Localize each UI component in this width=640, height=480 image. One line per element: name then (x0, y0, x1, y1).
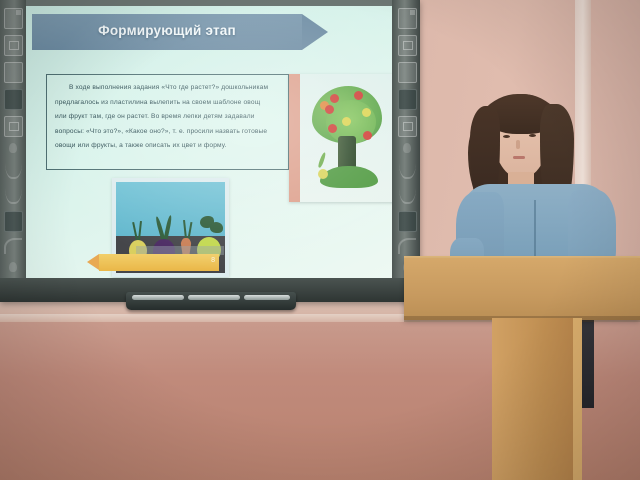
slide-number: 8 (211, 257, 215, 264)
tree-photo-inner (300, 74, 394, 202)
keyboard-icon[interactable] (4, 211, 23, 232)
wave-icon[interactable] (5, 161, 22, 179)
podium-column (492, 318, 576, 480)
undo-arrow-icon[interactable] (398, 238, 416, 254)
classroom-scene: Формирующий этап В ходе выполнения задан… (0, 0, 640, 480)
apple-icon (362, 108, 371, 117)
eye-left (503, 135, 510, 138)
dot-icon[interactable] (9, 143, 17, 153)
wave-icon[interactable] (399, 161, 416, 179)
copy-page-icon[interactable] (398, 8, 417, 29)
small-page-icon[interactable] (4, 116, 23, 137)
apple-tree-plasticine-photo (289, 74, 394, 202)
tree-grass (320, 166, 378, 188)
whiteboard-toolbar-left[interactable] (2, 8, 24, 276)
apple-icon (330, 94, 339, 103)
blank-page-icon[interactable] (398, 62, 417, 83)
nose (516, 140, 520, 149)
undo-arrow-icon[interactable] (4, 238, 22, 254)
top-placket (534, 200, 536, 260)
fallen-apple-icon (318, 169, 328, 179)
mouth (513, 156, 525, 159)
small-page-icon[interactable] (398, 116, 417, 137)
fill-page-icon[interactable] (398, 89, 417, 110)
blank-page-icon[interactable] (4, 62, 23, 83)
copy-page-icon[interactable] (4, 8, 23, 29)
new-page-icon[interactable] (398, 35, 417, 56)
interactive-whiteboard[interactable]: Формирующий этап В ходе выполнения задан… (0, 0, 420, 302)
sprout-icon (317, 152, 326, 168)
turnip-leaf (210, 222, 223, 233)
fill-page-icon[interactable] (4, 89, 23, 110)
apple-icon (354, 91, 363, 100)
slide-body-line: предлагалось из пластилина вылепить на с… (55, 96, 280, 111)
slide-title-banner: Формирующий этап (32, 14, 302, 50)
eye-right (529, 134, 536, 137)
pen-1[interactable] (132, 295, 184, 300)
apple-icon (328, 124, 337, 133)
apple-icon (363, 131, 372, 140)
pen-2[interactable] (188, 295, 240, 300)
slide-textbox: В ходе выполнения задания «Что где расте… (46, 74, 289, 170)
dot-icon[interactable] (403, 143, 411, 153)
new-page-icon[interactable] (4, 35, 23, 56)
wave-icon[interactable] (399, 186, 416, 204)
slide-body-line: В ходе выполнения задания «Что где расте… (55, 81, 280, 96)
slide-body-line: или фрукт там, где он растет. Во время л… (55, 110, 280, 125)
apple-icon (342, 117, 351, 126)
veg-sky (116, 182, 225, 240)
wave-icon[interactable] (5, 186, 22, 204)
slide-body-line: овощи или фрукты, а также описать их цве… (55, 139, 280, 154)
pen-3[interactable] (244, 295, 290, 300)
slide-footer-banner: 8 (99, 254, 219, 271)
podium-column-edge (573, 318, 582, 480)
keyboard-icon[interactable] (398, 211, 417, 232)
whiteboard-toolbar-right[interactable] (396, 8, 418, 276)
projected-slide: Формирующий этап В ходе выполнения задан… (24, 6, 394, 280)
apple-icon (325, 105, 334, 114)
wooden-podium (404, 258, 640, 320)
slide-body-line: вопросы: «Что это?», «Какое оно?», т. е.… (55, 125, 280, 140)
slide-title: Формирующий этап (32, 23, 302, 38)
eraser-icon[interactable] (9, 262, 17, 272)
pen-tray[interactable] (126, 292, 296, 310)
